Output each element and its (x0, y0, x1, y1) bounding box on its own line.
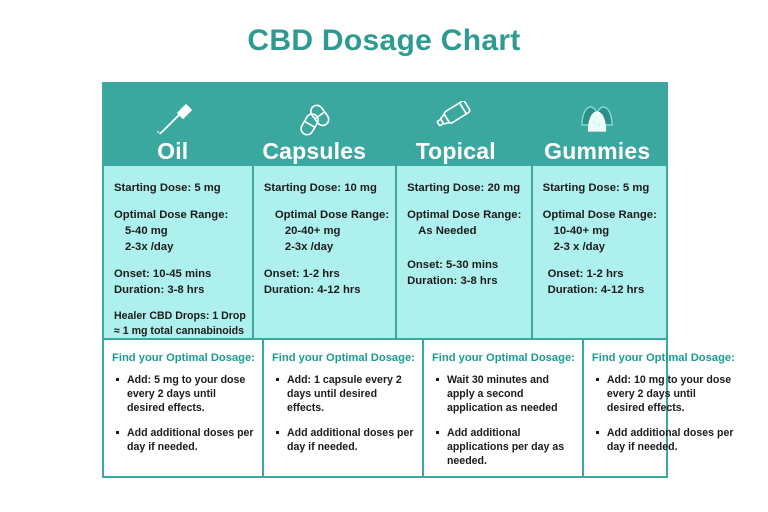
optimal-value-oil-1: 2-3x /day (114, 239, 246, 255)
tips-heading-gummies: Find your Optimal Dosage: (592, 352, 735, 364)
list-item: Add: 5 mg to your dose every 2 days unti… (112, 373, 255, 415)
header-label-gummies: Gummies (544, 139, 650, 163)
list-item: Add: 1 capsule every 2 days until desire… (272, 373, 415, 415)
header-label-oil: Oil (157, 139, 188, 163)
list-item: Add additional applications per day as n… (432, 426, 575, 468)
optimal-value-topical-0: As Needed (407, 223, 524, 239)
duration-gummies: Duration: 4-12 hrs (543, 282, 660, 298)
list-item: Add additional doses per day if needed. (592, 426, 735, 454)
detail-cell-oil: Starting Dose: 5 mg Optimal Dose Range: … (104, 166, 252, 338)
chart-header-row: Oil Capsules (102, 82, 668, 166)
header-label-capsules: Capsules (262, 139, 366, 163)
tips-heading-oil: Find your Optimal Dosage: (112, 352, 255, 364)
onset-gummies: Onset: 1-2 hrs (543, 266, 660, 282)
duration-capsules: Duration: 4-12 hrs (264, 282, 389, 298)
tips-list-oil: Add: 5 mg to your dose every 2 days unti… (112, 373, 255, 454)
tips-heading-capsules: Find your Optimal Dosage: (272, 352, 415, 364)
tips-cell-capsules: Find your Optimal Dosage: Add: 1 capsule… (262, 340, 422, 476)
list-item: Add additional doses per day if needed. (272, 426, 415, 454)
detail-cell-gummies: Starting Dose: 5 mg Optimal Dose Range: … (531, 166, 666, 338)
cream-tube-icon (430, 98, 482, 138)
list-item: Add: 10 mg to your dose every 2 days unt… (592, 373, 735, 415)
header-label-topical: Topical (416, 139, 496, 163)
starting-dose-topical: Starting Dose: 20 mg (407, 180, 524, 196)
onset-capsules: Onset: 1-2 hrs (264, 266, 389, 282)
tips-cell-gummies: Find your Optimal Dosage: Add: 10 mg to … (582, 340, 742, 476)
list-item: Add additional doses per day if needed. (112, 426, 255, 454)
tips-cell-oil: Find your Optimal Dosage: Add: 5 mg to y… (104, 340, 262, 476)
optimal-value-oil-0: 5-40 mg (114, 223, 246, 239)
detail-cell-capsules: Starting Dose: 10 mg Optimal Dose Range:… (252, 166, 395, 338)
gummies-icon (573, 98, 621, 138)
optimal-heading-topical: Optimal Dose Range: (407, 207, 524, 223)
note-oil-0: Healer CBD Drops: 1 Drop (114, 309, 246, 324)
optimal-value-gummies-0: 10-40+ mg (543, 223, 660, 239)
header-cell-gummies: Gummies (527, 82, 669, 166)
tips-heading-topical: Find your Optimal Dosage: (432, 352, 575, 364)
optimal-heading-gummies: Optimal Dose Range: (543, 207, 660, 223)
onset-oil: Onset: 10-45 mins (114, 266, 246, 282)
page-title: CBD Dosage Chart (0, 24, 768, 58)
dosage-chart-table: Oil Capsules (102, 82, 668, 478)
tips-cell-topical: Find your Optimal Dosage: Wait 30 minute… (422, 340, 582, 476)
header-cell-capsules: Capsules (244, 82, 386, 166)
optimal-value-capsules-1: 2-3x /day (264, 239, 389, 255)
starting-dose-gummies: Starting Dose: 5 mg (543, 180, 660, 196)
header-cell-oil: Oil (102, 82, 244, 166)
dropper-icon (150, 98, 196, 138)
chart-tips-row: Find your Optimal Dosage: Add: 5 mg to y… (102, 338, 668, 478)
list-item: Wait 30 minutes and apply a second appli… (432, 373, 575, 415)
starting-dose-oil: Starting Dose: 5 mg (114, 180, 246, 196)
onset-topical: Onset: 5-30 mins (407, 257, 524, 273)
duration-topical: Duration: 3-8 hrs (407, 273, 524, 289)
optimal-value-gummies-1: 2-3 x /day (543, 239, 660, 255)
detail-cell-topical: Starting Dose: 20 mg Optimal Dose Range:… (395, 166, 530, 338)
cbd-dosage-chart-page: CBD Dosage Chart Oil (0, 0, 768, 512)
starting-dose-capsules: Starting Dose: 10 mg (264, 180, 389, 196)
duration-oil: Duration: 3-8 hrs (114, 282, 246, 298)
optimal-heading-capsules: Optimal Dose Range: (264, 207, 389, 223)
note-oil-1: ≈ 1 mg total cannabinoids (114, 324, 246, 339)
tips-list-gummies: Add: 10 mg to your dose every 2 days unt… (592, 373, 735, 454)
capsules-icon (291, 98, 337, 138)
header-cell-topical: Topical (385, 82, 527, 166)
chart-detail-row: Starting Dose: 5 mg Optimal Dose Range: … (102, 166, 668, 338)
tips-list-capsules: Add: 1 capsule every 2 days until desire… (272, 373, 415, 454)
optimal-heading-oil: Optimal Dose Range: (114, 207, 246, 223)
optimal-value-capsules-0: 20-40+ mg (264, 223, 389, 239)
tips-list-topical: Wait 30 minutes and apply a second appli… (432, 373, 575, 468)
